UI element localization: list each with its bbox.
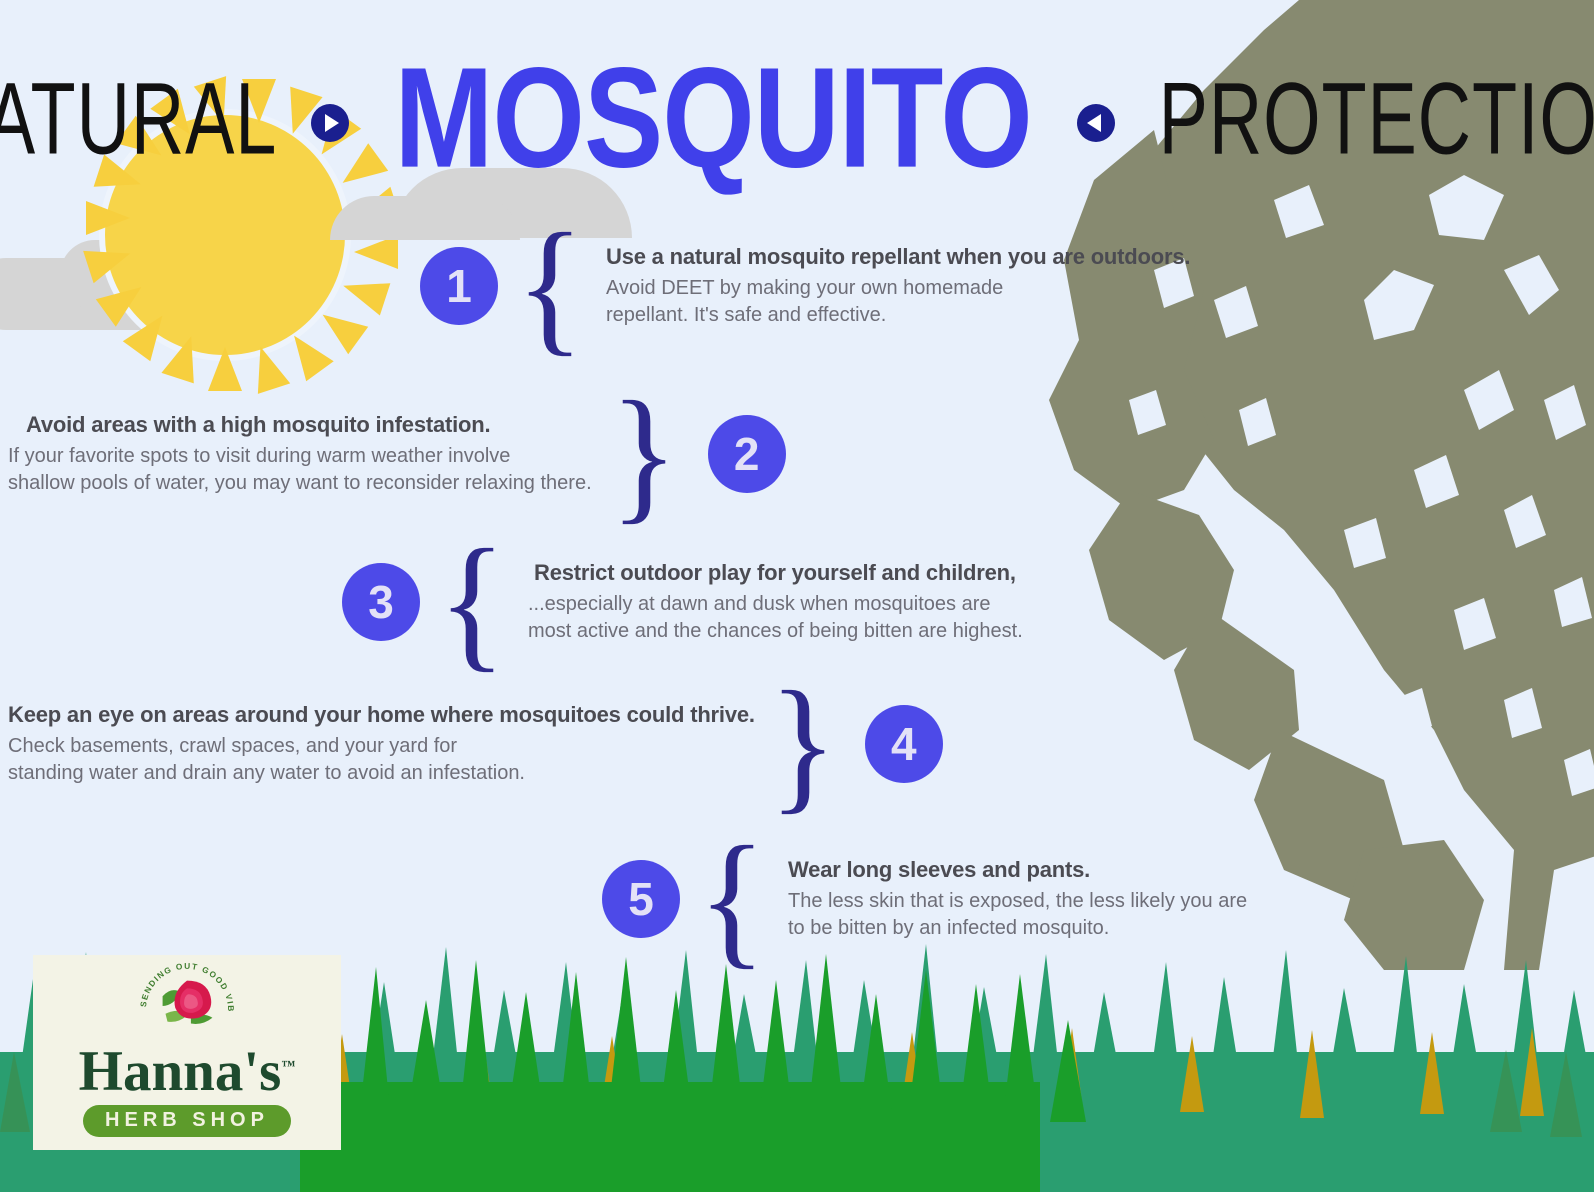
tip-heading: Restrict outdoor play for yourself and c… <box>528 560 1023 586</box>
tip-item-3: 3 { Restrict outdoor play for yourself a… <box>342 548 1023 656</box>
title-word-mosquito: MOSQUITO <box>394 47 1031 190</box>
tip-text-block: Restrict outdoor play for yourself and c… <box>528 560 1023 644</box>
logo-trademark: ™ <box>281 1059 295 1074</box>
tip-number-badge: 4 <box>865 705 943 783</box>
tip-text-block: Use a natural mosquito repellant when yo… <box>606 244 1190 328</box>
brace-close-icon: } <box>609 400 677 508</box>
poster-title: NATURAL MOSQUITO PROTECTION <box>0 52 1594 184</box>
hannas-herb-shop-logo[interactable]: SENDING OUT GOOD VIBRATIONS Hanna's™ HER… <box>33 955 341 1150</box>
brace-open-icon: { <box>516 232 584 340</box>
play-right-icon[interactable] <box>311 104 349 142</box>
cloud-shape <box>130 262 250 324</box>
brace-open-icon: { <box>438 548 506 656</box>
cloud-shape <box>0 258 200 330</box>
tip-number-badge: 5 <box>602 860 680 938</box>
tip-item-1: 1 { Use a natural mosquito repellant whe… <box>420 232 1190 340</box>
tip-number-badge: 2 <box>708 415 786 493</box>
tip-heading: Avoid areas with a high mosquito infesta… <box>8 412 592 438</box>
tip-text-block: Keep an eye on areas around your home wh… <box>8 702 755 786</box>
tip-heading: Keep an eye on areas around your home wh… <box>8 702 755 728</box>
tip-body: ...especially at dawn and dusk when mosq… <box>528 591 1023 644</box>
tip-number-badge: 1 <box>420 247 498 325</box>
tip-body: The less skin that is exposed, the less … <box>788 888 1247 941</box>
logo-tagline: HERB SHOP <box>83 1105 291 1137</box>
infographic-poster: NATURAL MOSQUITO PROTECTION 1 { Use a na… <box>0 0 1594 1192</box>
title-word-natural: NATURAL <box>0 67 277 169</box>
play-left-icon[interactable] <box>1077 104 1115 142</box>
tip-text-block: Avoid areas with a high mosquito infesta… <box>8 412 592 496</box>
rose-emblem-icon: SENDING OUT GOOD VIBRATIONS <box>129 963 245 1047</box>
tip-item-4: Keep an eye on areas around your home wh… <box>8 690 943 798</box>
brace-close-icon: } <box>769 690 837 798</box>
brace-open-icon: { <box>698 845 766 953</box>
title-word-protection: PROTECTION <box>1159 67 1594 169</box>
cloud-shape <box>60 240 190 310</box>
logo-wordmark: Hanna's™ <box>79 1043 296 1100</box>
tip-body: If your favorite spots to visit during w… <box>8 443 592 496</box>
tip-body: Check basements, crawl spaces, and your … <box>8 733 755 786</box>
tip-body: Avoid DEET by making your own homemade r… <box>606 275 1190 328</box>
tip-heading: Use a natural mosquito repellant when yo… <box>606 244 1190 270</box>
tip-number-badge: 3 <box>342 563 420 641</box>
tip-item-5: 5 { Wear long sleeves and pants. The les… <box>602 845 1247 953</box>
tip-text-block: Wear long sleeves and pants. The less sk… <box>788 857 1247 941</box>
logo-name-text: Hanna's <box>79 1040 282 1103</box>
tip-heading: Wear long sleeves and pants. <box>788 857 1247 883</box>
tip-item-2: Avoid areas with a high mosquito infesta… <box>8 400 786 508</box>
